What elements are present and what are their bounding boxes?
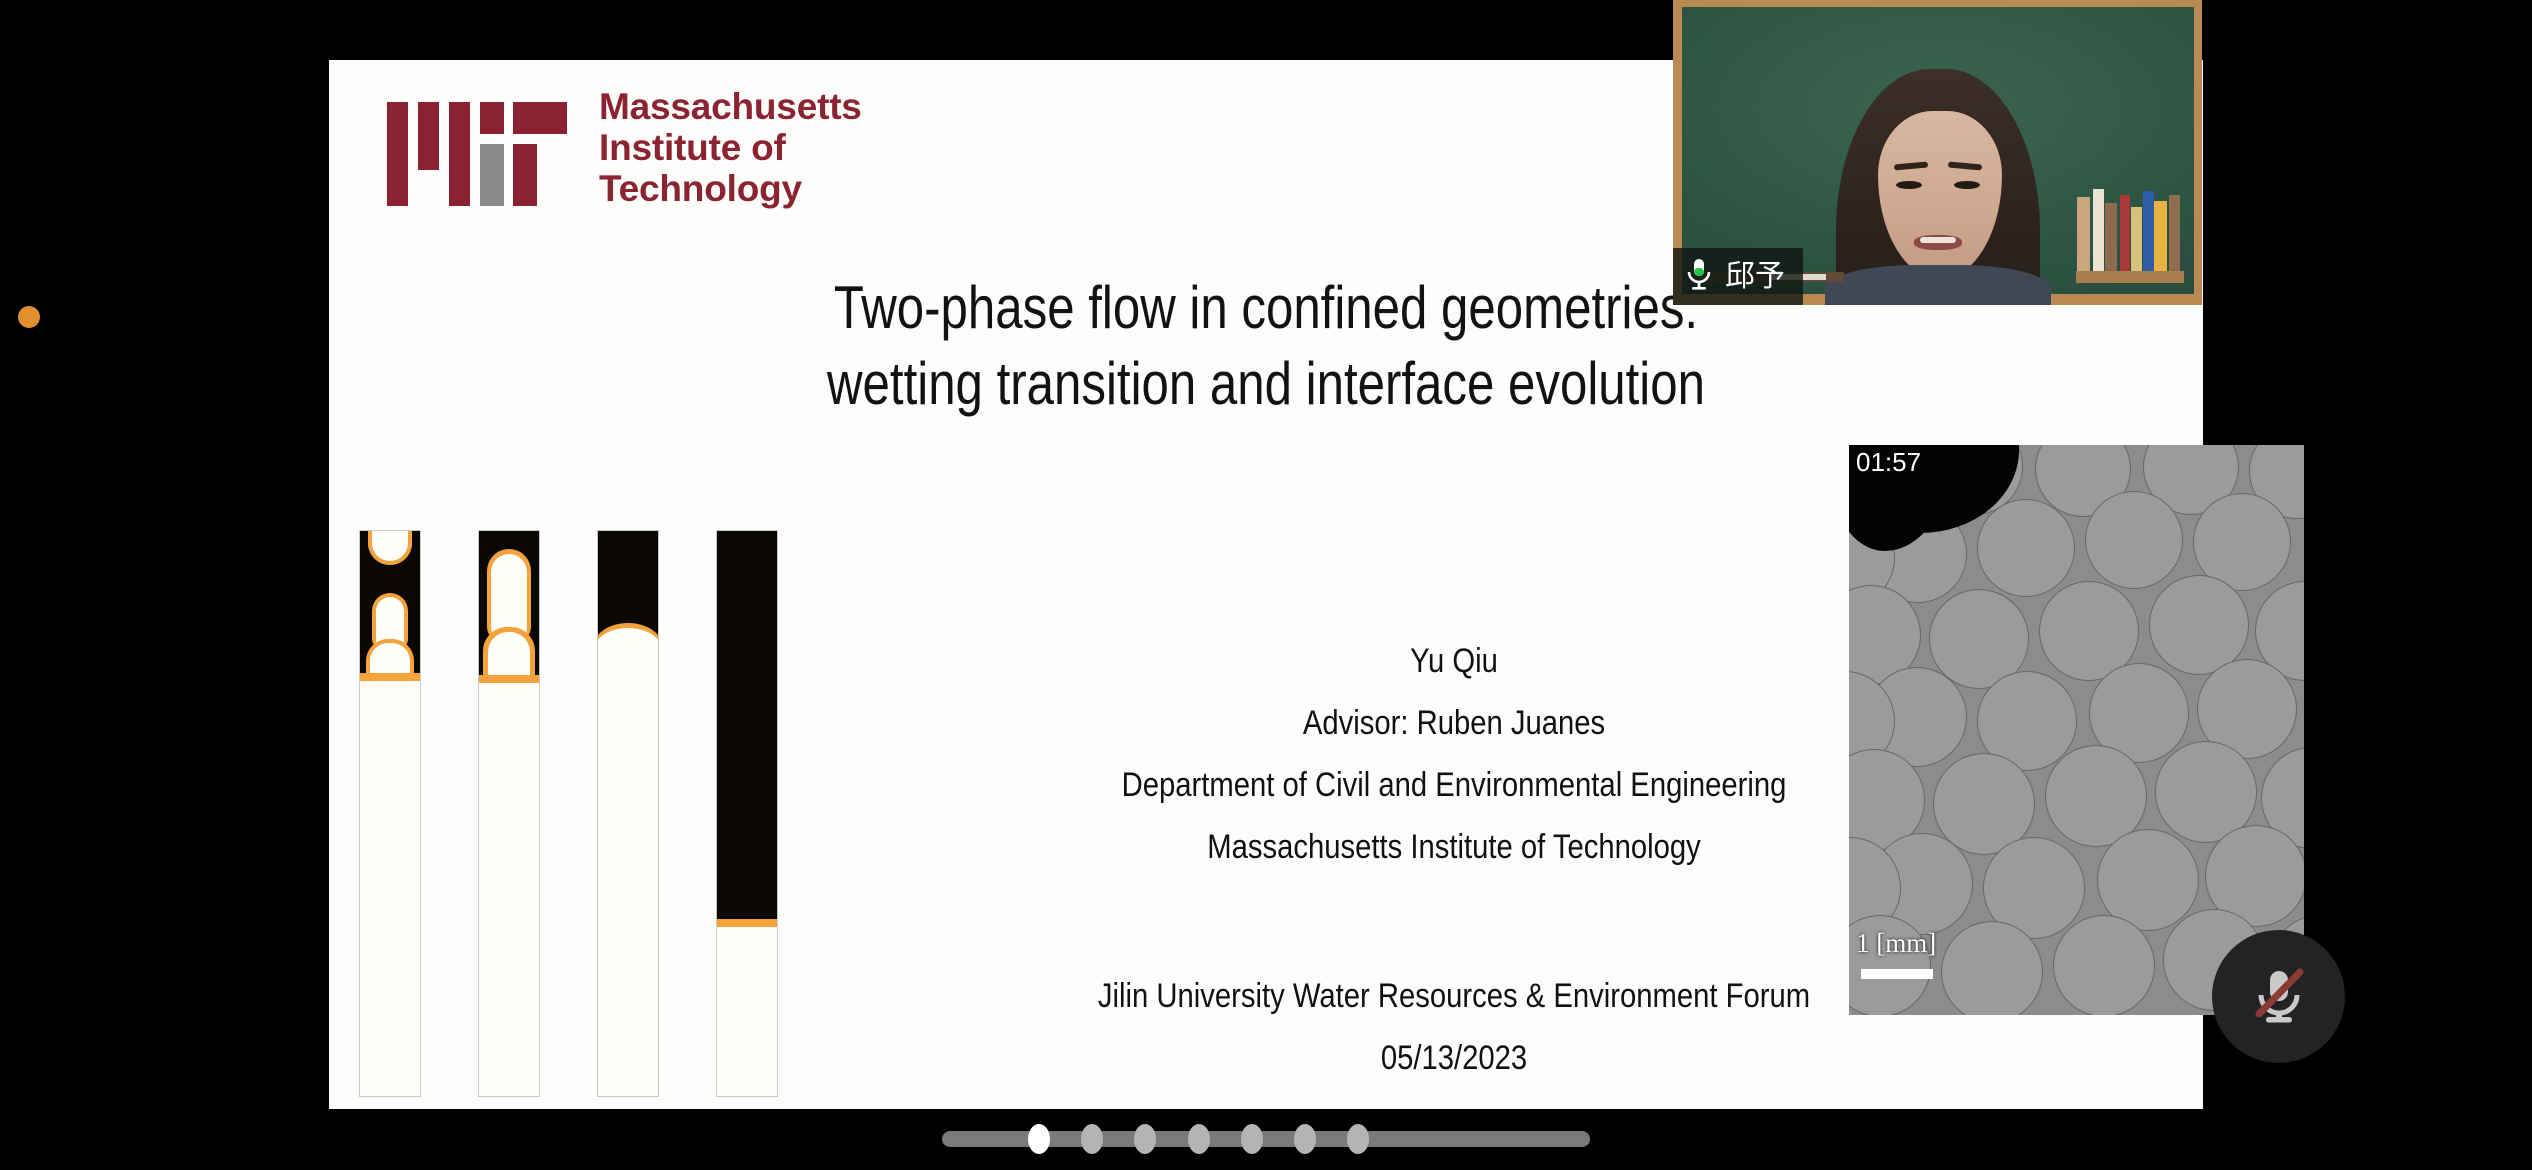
participant-mouth [1914, 235, 1962, 250]
mit-logo: Massachusetts Institute of Technology [357, 84, 887, 229]
microphone-icon [1685, 257, 1713, 296]
capillary-tube-panel-4 [716, 530, 778, 1097]
participant-video-tile[interactable]: 邱予 [1673, 0, 2202, 305]
book-shelf [2076, 271, 2184, 283]
micromodel-scale-bar [1861, 969, 1933, 979]
mute-toggle-button[interactable] [2212, 930, 2345, 1063]
screen-root: Massachusetts Institute of Technology Tw… [0, 0, 2532, 1170]
venue-date: 05/13/2023 [1020, 1027, 1889, 1089]
author-block: Yu Qiu Advisor: Ruben Juanes Department … [949, 630, 1959, 878]
capillary-tube-panel-2 [478, 530, 540, 1097]
slide-nav-dot-5[interactable] [1241, 1124, 1263, 1154]
microphone-muted-icon [2242, 957, 2316, 1036]
slide-nav-dot-1[interactable] [1028, 1124, 1050, 1154]
micromodel-scale-label: 1 [mm] [1856, 928, 1936, 959]
slide-nav-dot-3[interactable] [1134, 1124, 1156, 1154]
slide-nav-dot-4[interactable] [1188, 1124, 1210, 1154]
slide-nav-track[interactable] [942, 1131, 1590, 1147]
participant-name-badge: 邱予 [1673, 248, 1803, 305]
participant-torso [1825, 265, 2051, 305]
author-institution: Massachusetts Institute of Technology [1020, 816, 1889, 878]
venue-name: Jilin University Water Resources & Envir… [1020, 965, 1889, 1027]
capillary-tube-panel-3 [597, 530, 659, 1097]
capillary-tube-panel-1 [359, 530, 421, 1097]
mit-wordmark-line-3: Technology [599, 168, 862, 209]
author-advisor: Advisor: Ruben Juanes [1020, 692, 1889, 754]
recording-dot [18, 306, 40, 328]
mit-wordmark-line-2: Institute of [599, 127, 862, 168]
mit-wordmark: Massachusetts Institute of Technology [599, 86, 862, 209]
participant-name: 邱予 [1725, 262, 1785, 292]
micromodel-photo: 01:57 1 [mm] [1849, 445, 2304, 1015]
slide-nav-dot-6[interactable] [1294, 1124, 1316, 1154]
author-name: Yu Qiu [1020, 630, 1889, 692]
micromodel-timestamp: 01:57 [1856, 447, 1921, 478]
author-department: Department of Civil and Environmental En… [1020, 754, 1889, 816]
mit-logo-mark [387, 94, 567, 206]
capillary-tube-series [359, 470, 789, 1095]
page-title-line-2: wetting transition and interface evoluti… [498, 346, 2035, 422]
slide-nav-dot-2[interactable] [1081, 1124, 1103, 1154]
slide-nav-dot-7[interactable] [1347, 1124, 1369, 1154]
mit-wordmark-line-1: Massachusetts [599, 86, 862, 127]
venue-block: Jilin University Water Resources & Envir… [949, 965, 1959, 1089]
